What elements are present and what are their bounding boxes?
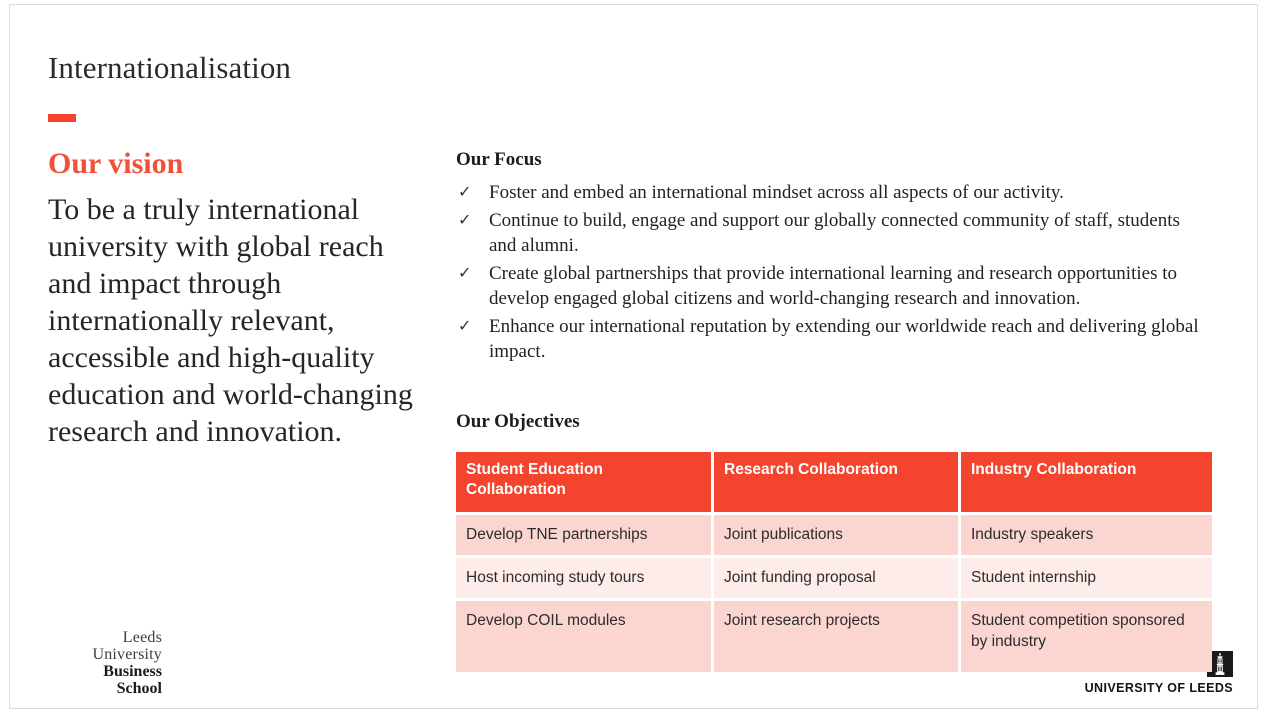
list-item: ✓ Continue to build, engage and support …: [456, 208, 1212, 259]
objectives-heading: Our Objectives: [456, 410, 580, 433]
focus-list: ✓ Foster and embed an international mind…: [456, 180, 1212, 367]
table-row: Develop TNE partnerships Joint publicati…: [456, 515, 1212, 558]
table-cell: Develop COIL modules: [456, 601, 714, 672]
vision-body: To be a truly international university w…: [48, 191, 430, 450]
check-icon: ✓: [458, 261, 471, 287]
list-item: ✓ Foster and embed an international mind…: [456, 180, 1212, 206]
list-item: ✓ Create global partnerships that provid…: [456, 261, 1212, 312]
check-icon: ✓: [458, 208, 471, 234]
column-header-student-education-collaboration: Student Education Collaboration: [456, 452, 714, 515]
lubs-logo-line-business: Business: [52, 663, 162, 680]
table-cell: Student competition sponsored by industr…: [961, 601, 1212, 672]
table-cell: Joint research projects: [714, 601, 961, 672]
column-header-industry-collaboration: Industry Collaboration: [961, 452, 1212, 515]
table-cell: Industry speakers: [961, 515, 1212, 558]
table-cell: Host incoming study tours: [456, 558, 714, 601]
lubs-logo-line-university: University: [52, 646, 162, 663]
focus-heading: Our Focus: [456, 148, 542, 171]
list-item: ✓ Enhance our international reputation b…: [456, 314, 1212, 365]
table-cell: Joint publications: [714, 515, 961, 558]
accent-dash: [48, 114, 76, 122]
uol-wordmark: UNIVERSITY OF LEEDS: [1083, 681, 1233, 695]
list-item-text: Enhance our international reputation by …: [489, 316, 1199, 363]
table-cell: Student internship: [961, 558, 1212, 601]
page-title: Internationalisation: [48, 49, 291, 87]
table-cell: Joint funding proposal: [714, 558, 961, 601]
lubs-logo-line-school: School: [52, 680, 162, 697]
table-cell: Develop TNE partnerships: [456, 515, 714, 558]
list-item-text: Continue to build, engage and support ou…: [489, 210, 1180, 257]
table-row: Develop COIL modules Joint research proj…: [456, 601, 1212, 672]
check-icon: ✓: [458, 314, 471, 340]
lubs-logo-line-leeds: Leeds: [52, 629, 162, 646]
table-row: Host incoming study tours Joint funding …: [456, 558, 1212, 601]
slide-canvas: Internationalisation Our vision To be a …: [9, 4, 1258, 709]
check-icon: ✓: [458, 180, 471, 206]
list-item-text: Foster and embed an international mindse…: [489, 182, 1064, 203]
table-header-row: Student Education Collaboration Research…: [456, 452, 1212, 515]
column-header-research-collaboration: Research Collaboration: [714, 452, 961, 515]
list-item-text: Create global partnerships that provide …: [489, 263, 1177, 310]
vision-heading: Our vision: [48, 146, 183, 182]
leeds-university-business-school-logo: Leeds University Business School: [52, 629, 162, 697]
objectives-table: Student Education Collaboration Research…: [456, 452, 1212, 672]
